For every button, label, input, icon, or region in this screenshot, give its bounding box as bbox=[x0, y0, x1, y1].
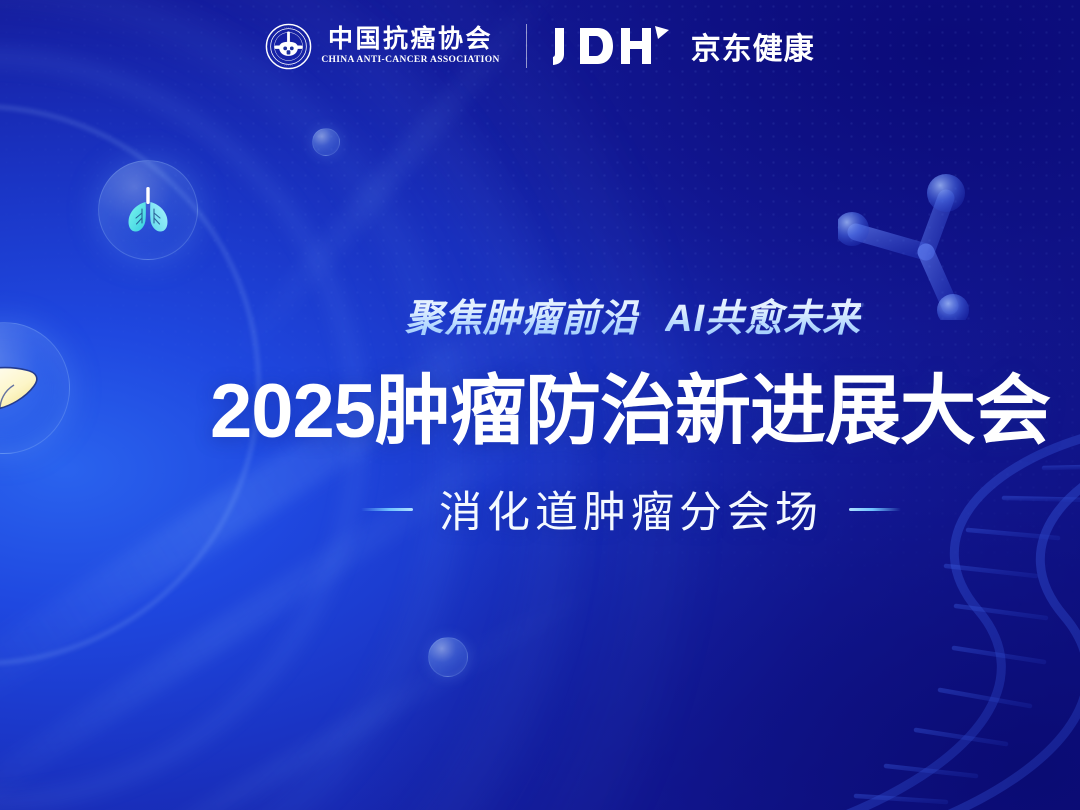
caca-logo[interactable]: · · · · · · · · · · 中国抗癌协会 CHINA ANTI-CA… bbox=[265, 23, 499, 70]
jdh-name-cn: 京东健康 bbox=[691, 24, 815, 68]
logo-divider bbox=[526, 24, 527, 68]
jdh-logo[interactable]: 京东健康 bbox=[553, 24, 815, 68]
bubble-icon bbox=[312, 128, 340, 156]
caca-text-block: 中国抗癌协会 CHINA ANTI-CANCER ASSOCIATION bbox=[321, 27, 499, 66]
jdh-wordmark-icon bbox=[553, 26, 681, 66]
caca-circular-emblem-icon: · · · · · · · · · · bbox=[265, 23, 312, 70]
caca-name-cn: 中国抗癌协会 bbox=[328, 27, 493, 52]
logo-group: · · · · · · · · · · 中国抗癌协会 CHINA ANTI-CA… bbox=[265, 23, 814, 70]
header-logo-bar: · · · · · · · · · · 中国抗癌协会 CHINA ANTI-CA… bbox=[0, 0, 1080, 92]
dna-helix-icon bbox=[828, 430, 1080, 810]
lungs-icon-bubble bbox=[98, 160, 198, 260]
caca-name-en: CHINA ANTI-CANCER ASSOCIATION bbox=[321, 56, 499, 66]
liver-icon bbox=[0, 357, 44, 419]
svg-text:· · · · ·: · · · · · bbox=[284, 25, 293, 29]
svg-text:· · · · ·: · · · · · bbox=[284, 64, 293, 68]
molecule-icon bbox=[838, 160, 1028, 320]
lungs-icon bbox=[121, 185, 175, 235]
conference-banner: · · · · · · · · · · 中国抗癌协会 CHINA ANTI-CA… bbox=[0, 0, 1080, 810]
bubble-icon bbox=[428, 637, 468, 677]
